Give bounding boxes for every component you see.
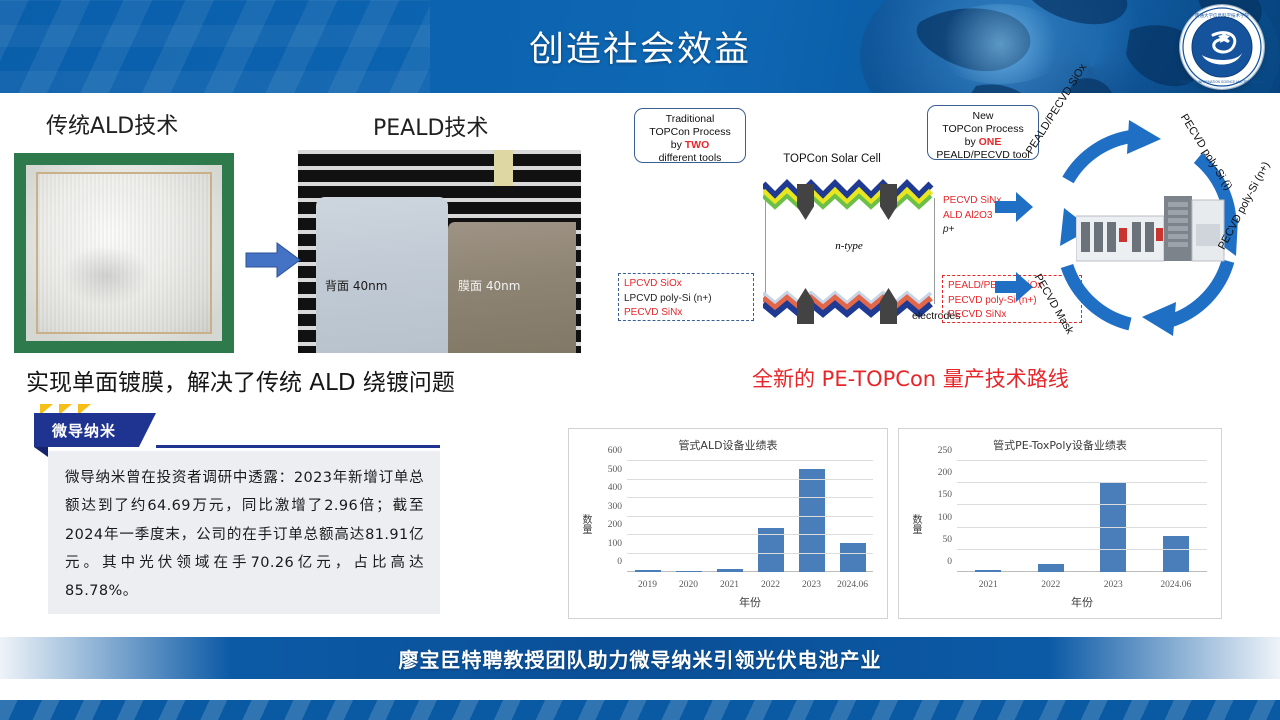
n-type-label: n-type xyxy=(765,240,933,252)
gridline xyxy=(957,549,1207,550)
bar xyxy=(635,570,661,572)
gridline xyxy=(627,497,873,498)
chart1-y-axis-label: 数量 xyxy=(577,514,590,534)
right-arrow-icon xyxy=(244,240,302,280)
bar xyxy=(975,570,1001,572)
chart2-x-ticks: 2021202220232024.06 xyxy=(957,580,1207,590)
seal-icon: 南通大学信息科学技术学院 SCHOOL OF INFORMATION SCIEN… xyxy=(1180,5,1264,89)
x-tick-label: 2023 xyxy=(1082,580,1145,590)
bar xyxy=(840,543,866,572)
wafer-smudge xyxy=(61,246,151,306)
new-line2: TOPCon Process xyxy=(934,123,1032,136)
y-tick-label: 50 xyxy=(943,535,953,545)
slide-header: 创造社会效益 南通大学信息科学技术学院 SCHOOL OF INFORMATIO… xyxy=(0,0,1280,93)
page-title: 创造社会效益 xyxy=(0,0,1280,93)
left-stack-line1: LPCVD SiOx xyxy=(624,277,753,292)
bar-column xyxy=(1020,461,1083,572)
label-back-40nm: 背面 40nm xyxy=(325,277,387,294)
chart2-y-axis-label: 数量 xyxy=(907,514,920,534)
chart2-plot-area: 050100150200250 xyxy=(957,461,1207,572)
university-seal-logo: 南通大学信息科学技术学院 SCHOOL OF INFORMATION SCIEN… xyxy=(1180,5,1264,89)
y-tick-label: 250 xyxy=(938,446,952,456)
y-tick-label: 600 xyxy=(608,446,622,456)
y-tick-label: 200 xyxy=(608,520,622,530)
gridline xyxy=(957,482,1207,483)
bar-column xyxy=(1082,461,1145,572)
gridline xyxy=(627,460,873,461)
x-tick-label: 2019 xyxy=(627,580,668,590)
y-tick-label: 150 xyxy=(938,490,952,500)
process-cycle-diagram: PEALD/PECVD SiOx PECVD poly-Si (i) PECVD… xyxy=(1030,106,1270,356)
tape-strip xyxy=(494,150,513,186)
footer-text: 廖宝臣特聘教授团队助力微导纳米引领光伏电池产业 xyxy=(399,644,882,673)
company-badge: 微导纳米 xyxy=(34,413,156,447)
bar xyxy=(676,571,702,572)
badge-rule-line xyxy=(156,445,440,448)
slide-root: 创造社会效益 南通大学信息科学技术学院 SCHOOL OF INFORMATIO… xyxy=(0,0,1280,720)
y-tick-label: 0 xyxy=(947,557,952,567)
gridline xyxy=(627,534,873,535)
chart1-plot-area: 0100200300400500600 xyxy=(627,461,873,572)
svg-text:南通大学信息科学技术学院: 南通大学信息科学技术学院 xyxy=(1195,12,1249,19)
gridline xyxy=(627,479,873,480)
badge-fold xyxy=(34,447,48,457)
chart1-x-axis-label: 年份 xyxy=(627,594,873,610)
trad-line4: different tools xyxy=(641,152,739,165)
bar xyxy=(799,469,825,572)
box-new-process: New TOPCon Process by ONE PEALD/PECVD to… xyxy=(927,105,1039,160)
x-tick-label: 2024.06 xyxy=(1145,580,1208,590)
pe-topcon-roadmap-caption: 全新的 PE-TOPCon 量产技术路线 xyxy=(752,363,1069,393)
trad-line3: by TWO xyxy=(641,139,739,152)
solar-cell-title: TOPCon Solar Cell xyxy=(757,153,907,165)
new-line3: by ONE xyxy=(934,136,1032,149)
company-info-card: 微导纳米 微导纳米曾在投资者调研中透露：2023年新增订单总额达到了约64.69… xyxy=(28,404,440,616)
chart2-x-axis-label: 年份 xyxy=(957,594,1207,610)
trad-line2: TOPCon Process xyxy=(641,126,739,139)
wafer-plate-back xyxy=(316,197,448,353)
bar xyxy=(1038,564,1064,572)
right-top-line2: ALD Al2O3 xyxy=(943,209,1001,224)
caption-single-side-coating: 实现单面镀膜，解决了传统 ALD 绕镀问题 xyxy=(26,363,455,397)
new-line4: PEALD/PECVD tool xyxy=(934,149,1032,162)
caption-peald: PEALD技术 xyxy=(373,110,488,142)
x-tick-label: 2022 xyxy=(750,580,791,590)
left-stack-line2: LPCVD poly-Si (n+) xyxy=(624,292,753,307)
bar-column xyxy=(957,461,1020,572)
bar xyxy=(717,569,743,572)
gridline xyxy=(957,460,1207,461)
gridline xyxy=(627,553,873,554)
right-top-labels: PECVD SiNx ALD Al2O3 p+ xyxy=(943,194,1001,238)
y-tick-label: 100 xyxy=(938,513,952,523)
y-tick-label: 100 xyxy=(608,539,622,549)
bottom-accent-strip xyxy=(0,700,1280,720)
gridline xyxy=(957,504,1207,505)
chart2-bars xyxy=(957,461,1207,572)
topcon-diagram: Traditional TOPCon Process by TWO differ… xyxy=(612,100,1280,362)
trad-line1: Traditional xyxy=(641,113,739,126)
flow-arrow-top-icon xyxy=(994,190,1034,224)
chart-ald-equipment: 管式ALD设备业绩表 数量 0100200300400500600 201920… xyxy=(568,428,888,619)
label-front-40nm: 膜面 40nm xyxy=(458,277,520,294)
bar xyxy=(1163,536,1189,572)
flow-arrow-bottom-icon xyxy=(994,270,1034,304)
bottom-layer-stack xyxy=(763,285,935,319)
tool-illustration xyxy=(1076,194,1226,264)
top-layer-stack xyxy=(763,176,935,210)
bar-column xyxy=(1145,461,1208,572)
photo-traditional-ald-wafer xyxy=(14,153,234,353)
chart1-x-ticks: 201920202021202220232024.06 xyxy=(627,580,873,590)
y-tick-label: 400 xyxy=(608,483,622,493)
y-tick-label: 0 xyxy=(617,557,622,567)
box-traditional-process: Traditional TOPCon Process by TWO differ… xyxy=(634,108,746,163)
photo-peald-wafer: 背面 40nm 膜面 40nm xyxy=(298,150,581,353)
equipment-photo xyxy=(1076,194,1226,264)
company-text-box: 微导纳米曾在投资者调研中透露：2023年新增订单总额达到了约64.69万元，同比… xyxy=(48,451,440,614)
left-process-stack: LPCVD SiOx LPCVD poly-Si (n+) PECVD SiNx xyxy=(618,273,754,321)
x-tick-label: 2021 xyxy=(709,580,750,590)
y-tick-label: 500 xyxy=(608,465,622,475)
x-tick-label: 2021 xyxy=(957,580,1020,590)
y-tick-label: 300 xyxy=(608,502,622,512)
y-tick-label: 200 xyxy=(938,468,952,478)
right-top-line3: p+ xyxy=(943,223,1001,238)
slide-footer: 廖宝臣特聘教授团队助力微导纳米引领光伏电池产业 xyxy=(0,637,1280,679)
right-top-line1: PECVD SiNx xyxy=(943,194,1001,209)
gridline xyxy=(957,527,1207,528)
x-tick-label: 2023 xyxy=(791,580,832,590)
chart-petoxpoly-equipment: 管式PE-ToxPoly设备业绩表 数量 050100150200250 202… xyxy=(898,428,1222,619)
caption-traditional-ald: 传统ALD技术 xyxy=(46,108,178,140)
x-tick-label: 2020 xyxy=(668,580,709,590)
new-line1: New xyxy=(934,110,1032,123)
x-tick-label: 2024.06 xyxy=(832,580,873,590)
svg-text:SCHOOL OF INFORMATION SCIENCE: SCHOOL OF INFORMATION SCIENCE AND TECHNO… xyxy=(1180,80,1264,84)
gridline xyxy=(627,516,873,517)
left-stack-line3: PECVD SiNx xyxy=(624,306,753,321)
x-tick-label: 2022 xyxy=(1020,580,1083,590)
company-paragraph: 微导纳米曾在投资者调研中透露：2023年新增订单总额达到了约64.69万元，同比… xyxy=(65,464,424,605)
